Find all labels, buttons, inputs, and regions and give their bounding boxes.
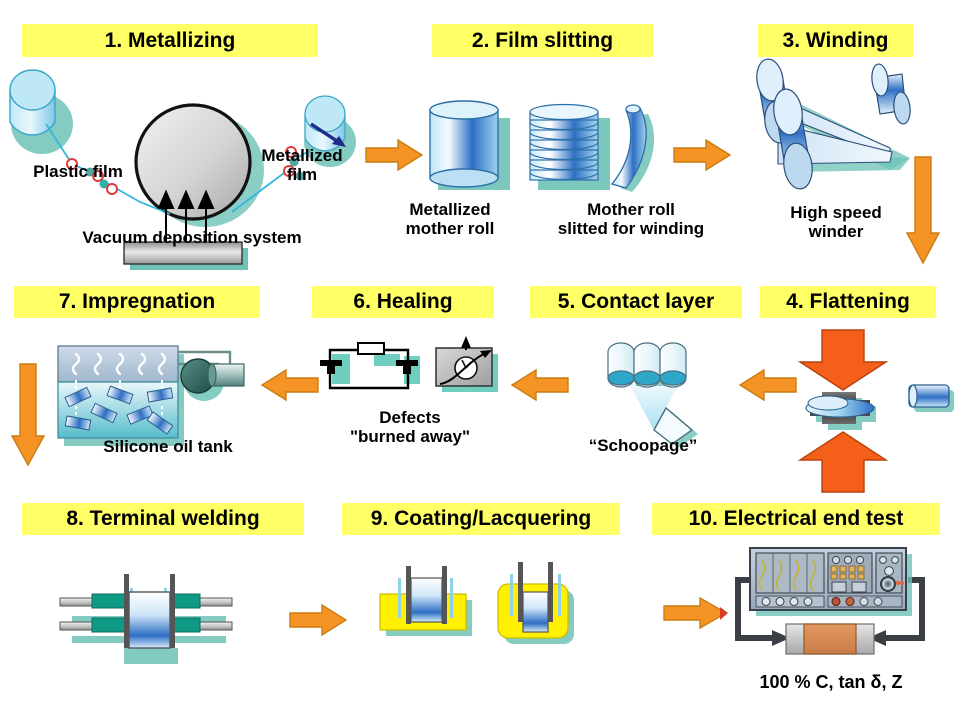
capacitor-windings-icon	[608, 343, 686, 387]
step-banner-electrical-end-test[interactable]: 10. Electrical end test	[652, 503, 940, 535]
film-slitting-illustration	[412, 96, 672, 206]
step-banner-label: 10. Electrical end test	[689, 507, 904, 531]
caption-plastic-film: Plastic film	[8, 162, 148, 181]
terminal-welding-illustration	[48, 560, 248, 670]
caption-silicone-oil-tank: Silicone oil tank	[74, 437, 262, 456]
step-banner-contact-layer[interactable]: 5. Contact layer	[530, 286, 742, 318]
healing-illustration	[316, 340, 506, 400]
supply-roll-icon	[10, 70, 73, 154]
caption-end-test-values: 100 % C, tan δ, Z	[716, 672, 946, 692]
step-banner-film-slitting[interactable]: 2. Film slitting	[432, 24, 653, 57]
step-banner-label: 4. Flattening	[786, 290, 910, 314]
flow-arrow-5-to-6	[508, 368, 570, 402]
flow-arrow-row1-to-row2	[905, 155, 941, 265]
flattening-illustration	[788, 328, 898, 468]
flow-arrow-8-to-9	[288, 603, 348, 637]
step-banner-label: 2. Film slitting	[472, 29, 613, 53]
instrument-waveform-display	[756, 553, 824, 593]
caption-metallized-mother-roll: Metallized mother roll	[388, 200, 512, 238]
step-banner-label: 6. Healing	[353, 290, 452, 314]
slitted-roll-stack-icon	[530, 105, 610, 191]
device-under-test-icon	[786, 624, 874, 654]
flow-arrow-6-to-7	[258, 368, 320, 402]
slit-film-strip-icon	[612, 105, 654, 192]
step-banner-label: 8. Terminal welding	[66, 507, 259, 531]
caption-schoopage: “Schoopage”	[548, 436, 738, 455]
step-banner-flattening[interactable]: 4. Flattening	[760, 286, 936, 318]
caption-metallized-film: Metallized film	[246, 146, 358, 184]
step-banner-label: 5. Contact layer	[558, 290, 714, 314]
coated-element-icon	[498, 562, 574, 644]
step-banner-impregnation[interactable]: 7. Impregnation	[14, 286, 260, 318]
capacitor-body-icon	[129, 592, 170, 648]
coating-lacquering-illustration	[372, 556, 582, 666]
metallized-mother-roll-icon	[430, 101, 510, 190]
flattened-element-icon	[806, 392, 876, 430]
winding-illustration	[734, 62, 934, 202]
step-banner-label: 1. Metallizing	[105, 29, 236, 53]
press-arrow-down-icon	[800, 330, 886, 390]
instrument-middle-module	[828, 553, 872, 593]
healing-meter-icon	[436, 336, 498, 392]
instrument-button-strip[interactable]	[828, 596, 902, 607]
flattening-input-roll	[906, 382, 958, 416]
healing-circuit-icon	[320, 343, 420, 388]
step-banner-label: 7. Impregnation	[59, 290, 215, 314]
lacquer-dip-icon	[380, 566, 472, 636]
winder-supply-roll-icon	[870, 63, 911, 124]
flow-arrow-2-to-3	[672, 138, 732, 172]
vacuum-pump-icon	[181, 359, 244, 401]
caption-vacuum-deposition-system: Vacuum deposition system	[42, 228, 342, 247]
instrument-right-module	[876, 553, 904, 593]
caption-mother-roll-slitted: Mother roll slitted for winding	[540, 200, 722, 238]
electrical-end-test-illustration	[726, 542, 936, 672]
caption-high-speed-winder: High speed winder	[756, 203, 916, 241]
process-flow-diagram: 1. Metallizing 2. Film slitting 3. Windi…	[0, 0, 960, 720]
flow-arrow-9-to-10	[662, 595, 730, 631]
step-banner-label: 3. Winding	[783, 29, 889, 53]
press-arrow-up-icon	[800, 432, 886, 492]
instrument-knob-row[interactable]	[756, 596, 824, 607]
step-banner-coating-lacquering[interactable]: 9. Coating/Lacquering	[342, 503, 620, 535]
step-banner-winding[interactable]: 3. Winding	[758, 24, 913, 57]
step-banner-healing[interactable]: 6. Healing	[312, 286, 494, 318]
flow-arrow-row2-to-row3	[10, 362, 46, 467]
step-banner-label: 9. Coating/Lacquering	[371, 507, 592, 531]
caption-defects-burned-away: Defects "burned away"	[320, 408, 500, 446]
step-banner-terminal-welding[interactable]: 8. Terminal welding	[22, 503, 304, 535]
